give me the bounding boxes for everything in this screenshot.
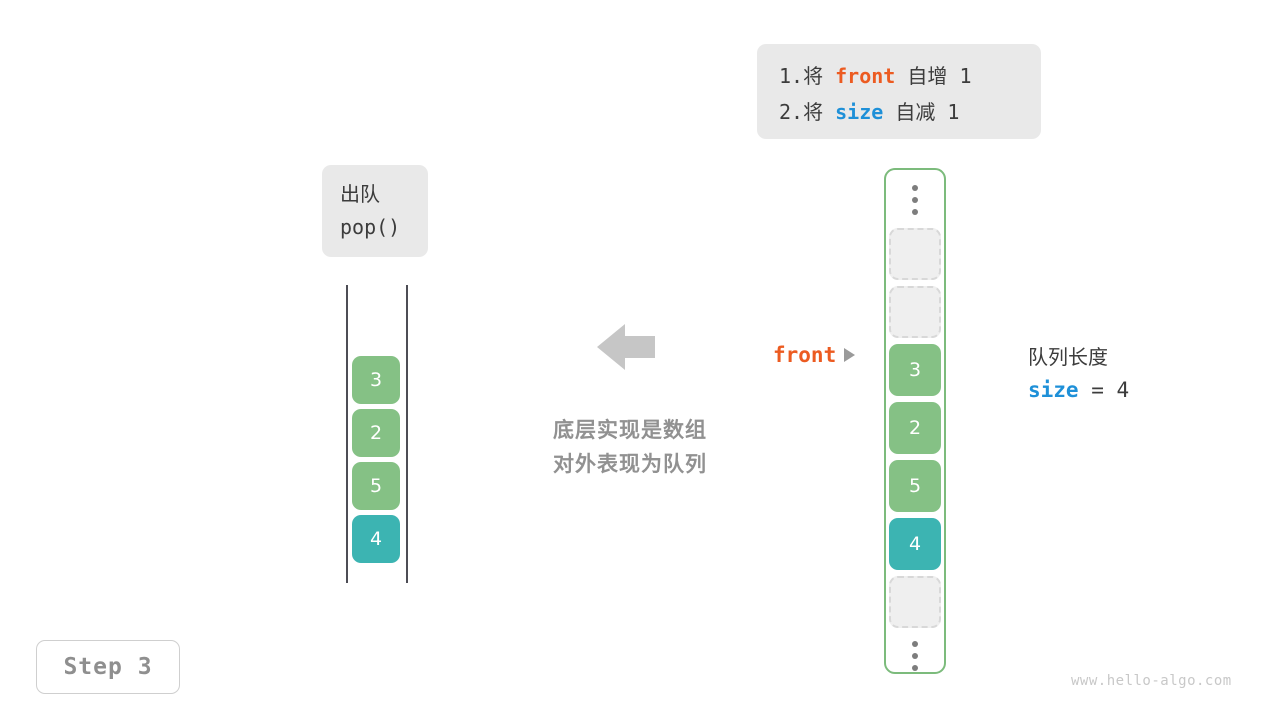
queue-rail-left — [346, 285, 348, 583]
size-annotation-expression: size = 4 — [1028, 373, 1129, 407]
array-slot: 3 — [889, 344, 941, 396]
instruction-line-1-prefix: 将 — [803, 64, 835, 88]
instruction-line-1-suffix: 自增 1 — [895, 64, 971, 88]
queue-rail-right — [406, 285, 408, 583]
queue-cell: 2 — [352, 409, 400, 457]
dot-icon — [912, 653, 918, 659]
pop-box-method: pop() — [340, 211, 428, 244]
array-slot: 2 — [889, 402, 941, 454]
queue-cell-highlighted: 4 — [352, 515, 400, 563]
array-slot-empty — [889, 228, 941, 280]
dot-icon — [912, 185, 918, 191]
instruction-line-2: 2.将 size 自减 1 — [779, 94, 1019, 130]
array-ellipsis-bottom-icon — [912, 634, 918, 678]
instruction-box: 1.将 front 自增 1 2.将 size 自减 1 — [757, 44, 1041, 139]
instruction-line-2-prefix: 将 — [803, 100, 835, 124]
center-caption-line-2: 对外表现为队列 — [530, 447, 730, 481]
queue-cell: 3 — [352, 356, 400, 404]
dot-icon — [912, 665, 918, 671]
instruction-keyword-size: size — [835, 100, 883, 124]
instruction-line-1: 1.将 front 自增 1 — [779, 58, 1019, 94]
queue-cell-list: 3 2 5 4 — [352, 356, 400, 563]
dot-icon — [912, 197, 918, 203]
array-slot-highlighted: 4 — [889, 518, 941, 570]
instruction-keyword-front: front — [835, 64, 895, 88]
watermark: www.hello-algo.com — [1071, 673, 1232, 689]
array-slot: 5 — [889, 460, 941, 512]
step-badge-label: Step 3 — [63, 654, 152, 680]
size-keyword: size — [1028, 378, 1079, 402]
size-annotation-title: 队列长度 — [1028, 341, 1129, 373]
instruction-line-1-index: 1. — [779, 64, 803, 88]
queue-cell: 5 — [352, 462, 400, 510]
array-slot-empty — [889, 286, 941, 338]
triangle-right-icon — [844, 348, 855, 362]
size-annotation: 队列长度 size = 4 — [1028, 341, 1129, 407]
front-pointer-label: front — [773, 343, 836, 367]
center-caption: 底层实现是数组 对外表现为队列 — [530, 413, 730, 481]
array-slot-empty — [889, 576, 941, 628]
pop-box-title: 出队 — [340, 178, 428, 211]
front-pointer: front — [773, 343, 855, 367]
flow-arrow-left-icon — [597, 322, 655, 372]
instruction-line-2-suffix: 自减 1 — [883, 100, 959, 124]
array-ellipsis-top-icon — [912, 178, 918, 222]
dot-icon — [912, 641, 918, 647]
center-caption-line-1: 底层实现是数组 — [530, 413, 730, 447]
array-container: 3 2 5 4 — [884, 168, 946, 674]
size-equals: = — [1079, 378, 1117, 402]
size-value: 4 — [1117, 378, 1130, 402]
step-badge: Step 3 — [36, 640, 180, 694]
dot-icon — [912, 209, 918, 215]
pop-operation-box: 出队 pop() — [322, 165, 428, 257]
instruction-line-2-index: 2. — [779, 100, 803, 124]
